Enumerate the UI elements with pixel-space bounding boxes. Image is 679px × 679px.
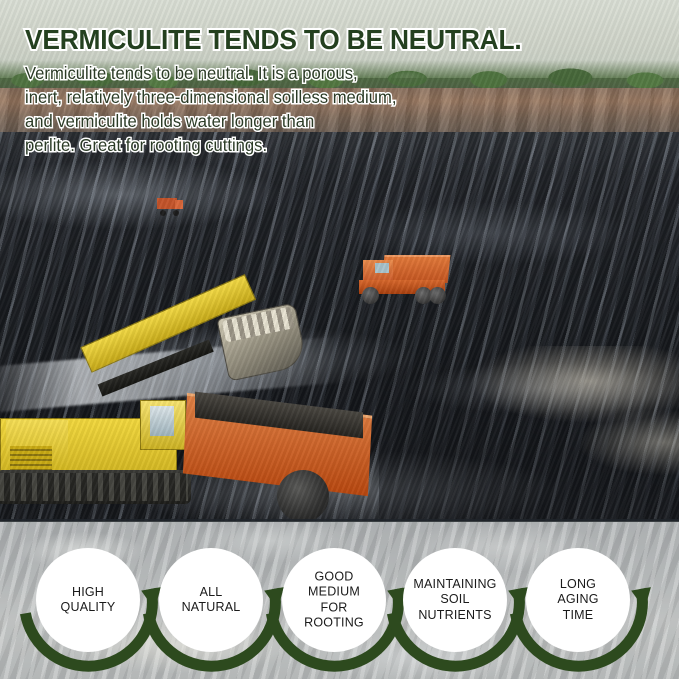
body-line-4: perlite. Great for rooting cuttings.: [25, 135, 267, 155]
body-line-3: and vermiculite holds water longer than: [25, 111, 314, 131]
body-line-1: Vermiculite tends to be neutral. It is a…: [25, 63, 358, 83]
benefit-bubble-long-aging-time[interactable]: [526, 548, 630, 652]
body-copy: Vermiculite tends to be neutral. It is a…: [25, 62, 472, 157]
infographic-canvas: VERMICULITE TENDS TO BE NEUTRAL. Vermicu…: [0, 0, 679, 679]
haul-truck: [355, 252, 451, 304]
distant-truck: [157, 198, 183, 216]
dump-truck-body: [185, 404, 390, 521]
benefit-bubble-good-medium[interactable]: [282, 548, 386, 652]
circle-layer: [36, 548, 630, 652]
benefits-flow-diagram: [0, 522, 679, 679]
benefit-bubble-soil-nutrients[interactable]: [403, 548, 507, 652]
body-line-2: inert, relatively three-dimensional soil…: [25, 87, 396, 107]
text-block: VERMICULITE TENDS TO BE NEUTRAL. Vermicu…: [25, 24, 655, 158]
rubble-ridge: [379, 346, 679, 521]
benefit-bubble-all-natural[interactable]: [159, 548, 263, 652]
benefits-band: HIGHQUALITYALLNATURALGOODMEDIUMFORROOTIN…: [0, 522, 679, 679]
benefit-bubble-high-quality[interactable]: [36, 548, 140, 652]
page-title: VERMICULITE TENDS TO BE NEUTRAL.: [25, 24, 617, 55]
